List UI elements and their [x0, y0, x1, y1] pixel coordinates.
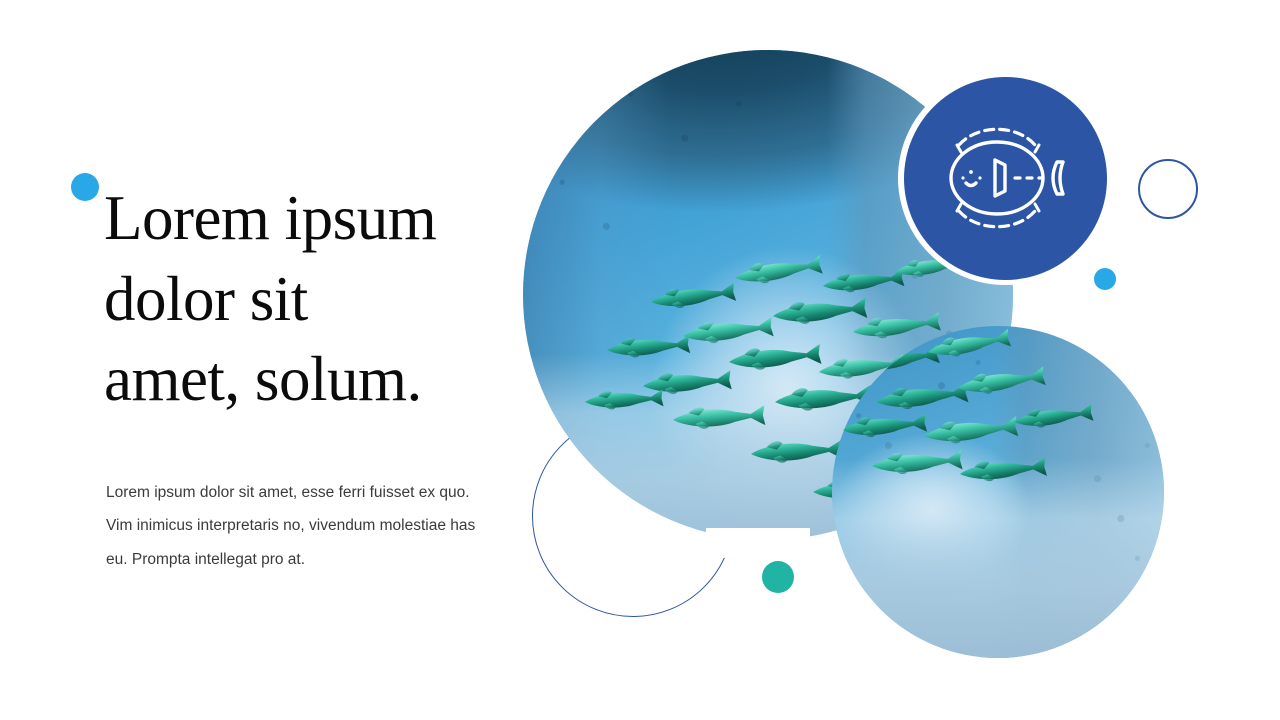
underwater-fish-school-small	[832, 326, 1164, 658]
page-title: Lorem ipsum dolor sit amet, solum.	[104, 178, 504, 420]
body-paragraph: Lorem ipsum dolor sit amet, esse ferri f…	[106, 476, 486, 576]
slide-white-notch	[706, 528, 810, 558]
photo-inner-small	[832, 326, 1164, 658]
fish-school-overlay-small	[832, 326, 1164, 658]
outline-circle-small	[1138, 159, 1198, 219]
accent-dot-teal	[762, 561, 794, 593]
accent-dot-right	[1094, 268, 1116, 290]
fish-icon-badge[interactable]	[898, 71, 1112, 285]
fish-icon	[939, 122, 1071, 234]
fish-icon-badge-disc	[904, 77, 1107, 280]
text-block: Lorem ipsum dolor sit amet, solum.	[104, 178, 504, 420]
slide-canvas: Lorem ipsum dolor sit amet, solum. Lorem…	[0, 0, 1280, 720]
accent-dot-title	[71, 173, 99, 201]
